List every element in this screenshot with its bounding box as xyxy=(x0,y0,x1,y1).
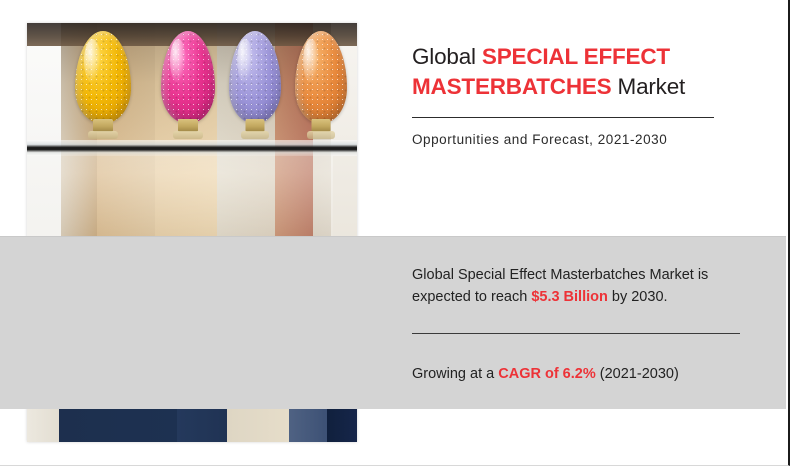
title-accent-one: SPECIAL EFFECT xyxy=(482,44,670,69)
title-suffix: Market xyxy=(611,74,685,99)
page-title: Global SPECIAL EFFECTMASTERBATCHES Marke… xyxy=(412,42,732,102)
infographic-root: Allied Market Research Global SPECIAL EF… xyxy=(0,0,790,466)
title-accent-two: MASTERBATCHES xyxy=(412,74,611,99)
stats-content: Global Special Effect Masterbatches Mark… xyxy=(412,264,752,385)
sample-vessel-orange-top xyxy=(295,31,347,147)
sample-vessel-lavender xyxy=(229,31,281,147)
sample-vessel-yellow xyxy=(75,31,131,147)
title-block: Global SPECIAL EFFECTMASTERBATCHES Marke… xyxy=(412,42,732,149)
market-growth-statement: Growing at a CAGR of 6.2% (2021-2030) xyxy=(412,363,752,385)
sample-vessel-magenta xyxy=(161,31,215,147)
market-projection-statement: Global Special Effect Masterbatches Mark… xyxy=(412,264,752,308)
title-divider xyxy=(412,117,714,118)
photo-glass-shelf xyxy=(27,140,357,156)
photo-navy-base xyxy=(27,405,357,442)
page-subtitle: Opportunities and Forecast, 2021-2030 xyxy=(412,131,732,149)
stats-divider xyxy=(412,333,740,334)
projection-value: $5.3 Billion xyxy=(531,289,608,305)
growth-suffix: (2021-2030) xyxy=(596,366,679,382)
title-prefix: Global xyxy=(412,44,482,69)
stats-panel-photo-overlay xyxy=(0,237,357,409)
growth-value: CAGR of 6.2% xyxy=(498,366,596,382)
growth-prefix: Growing at a xyxy=(412,366,498,382)
stats-panel: Global Special Effect Masterbatches Mark… xyxy=(0,236,786,409)
projection-suffix: by 2030. xyxy=(608,289,668,305)
